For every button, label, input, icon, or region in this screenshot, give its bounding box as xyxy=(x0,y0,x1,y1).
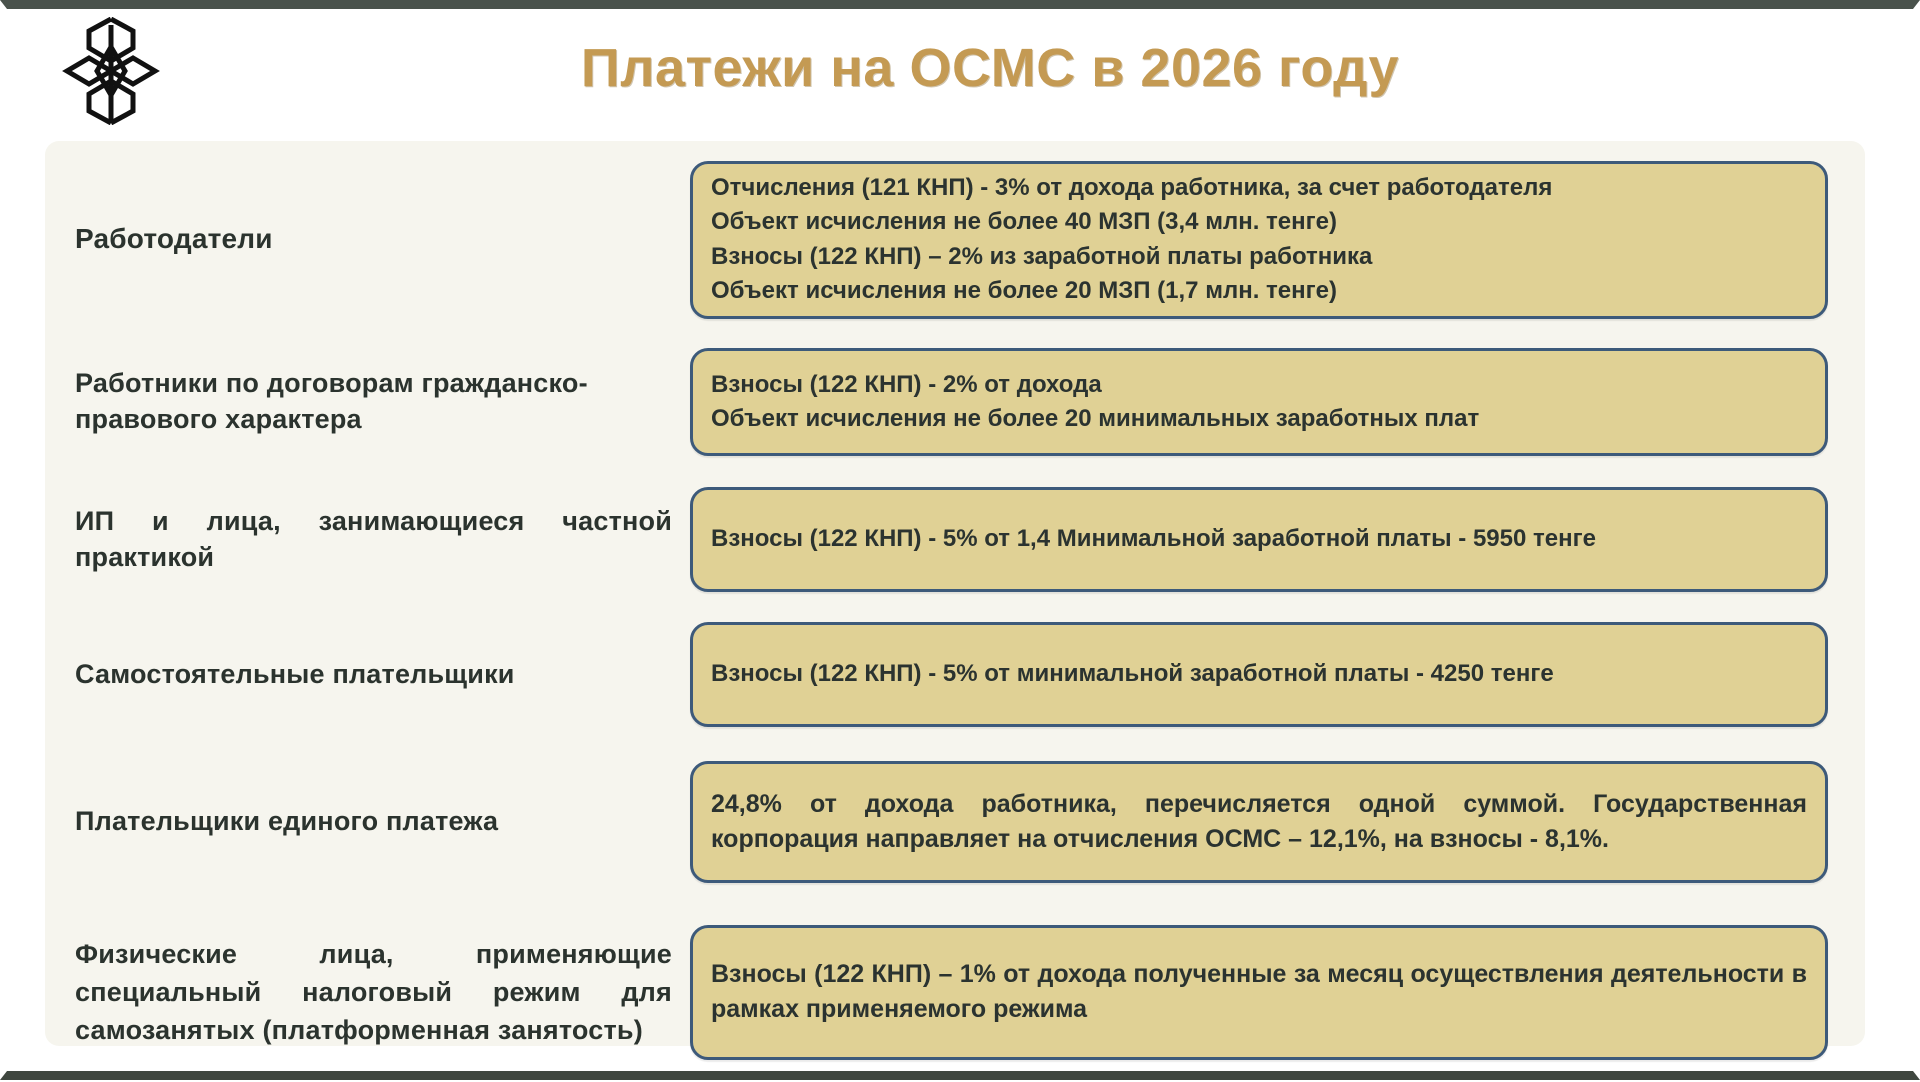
page-title: Платежи на ОСМС в 2026 году xyxy=(7,37,1913,99)
row-label: Работники по договорам гражданско-правов… xyxy=(45,366,690,437)
table-row: Самостоятельные плательщики Взносы (122 … xyxy=(45,607,1865,742)
row-card: Взносы (122 КНП) – 1% от дохода полученн… xyxy=(690,925,1828,1060)
snowflake-ornament-icon xyxy=(59,17,163,125)
table-row: ИП и лица, занимающиеся частной практико… xyxy=(45,472,1865,607)
row-label: Работодатели xyxy=(45,221,690,258)
content-panel: Работодатели Отчисления (121 КНП) - 3% о… xyxy=(45,141,1865,1046)
table-row: Работники по договорам гражданско-правов… xyxy=(45,332,1865,472)
card-line: Взносы (122 КНП) - 5% от минимальной зар… xyxy=(711,657,1807,691)
row-card: Взносы (122 КНП) - 5% от 1,4 Минимальной… xyxy=(690,487,1828,592)
row-card: Отчисления (121 КНП) - 3% от дохода рабо… xyxy=(690,161,1828,319)
rows-container: Работодатели Отчисления (121 КНП) - 3% о… xyxy=(45,141,1865,1046)
card-line: Объект исчисления не более 20 минимальны… xyxy=(711,402,1807,436)
row-card: 24,8% от дохода работника, перечисляется… xyxy=(690,761,1828,883)
card-line: Отчисления (121 КНП) - 3% от дохода рабо… xyxy=(711,171,1807,205)
slide-header: Платежи на ОСМС в 2026 году xyxy=(7,9,1913,127)
row-label: Самостоятельные плательщики xyxy=(45,657,690,693)
table-row: Работодатели Отчисления (121 КНП) - 3% о… xyxy=(45,147,1865,332)
table-row: Плательщики единого платежа 24,8% от дох… xyxy=(45,742,1865,902)
card-line: Взносы (122 КНП) – 1% от дохода полученн… xyxy=(711,957,1807,1028)
row-card: Взносы (122 КНП) - 5% от минимальной зар… xyxy=(690,622,1828,727)
row-label: Физические лица, применяющие специальный… xyxy=(45,935,690,1050)
table-row: Физические лица, применяющие специальный… xyxy=(45,902,1865,1082)
row-label: Плательщики единого платежа xyxy=(45,804,690,840)
card-line: 24,8% от дохода работника, перечисляется… xyxy=(711,787,1807,858)
row-label: ИП и лица, занимающиеся частной практико… xyxy=(45,504,690,575)
card-line: Объект исчисления не более 40 МЗП (3,4 м… xyxy=(711,205,1807,239)
slide: Платежи на ОСМС в 2026 году Работодатели… xyxy=(0,0,1920,1080)
card-line: Взносы (122 КНП) - 5% от 1,4 Минимальной… xyxy=(711,522,1807,556)
row-card: Взносы (122 КНП) - 2% от дохода Объект и… xyxy=(690,348,1828,456)
card-line: Взносы (122 КНП) – 2% из заработной плат… xyxy=(711,240,1807,274)
card-line: Объект исчисления не более 20 МЗП (1,7 м… xyxy=(711,274,1807,308)
card-line: Взносы (122 КНП) - 2% от дохода xyxy=(711,368,1807,402)
